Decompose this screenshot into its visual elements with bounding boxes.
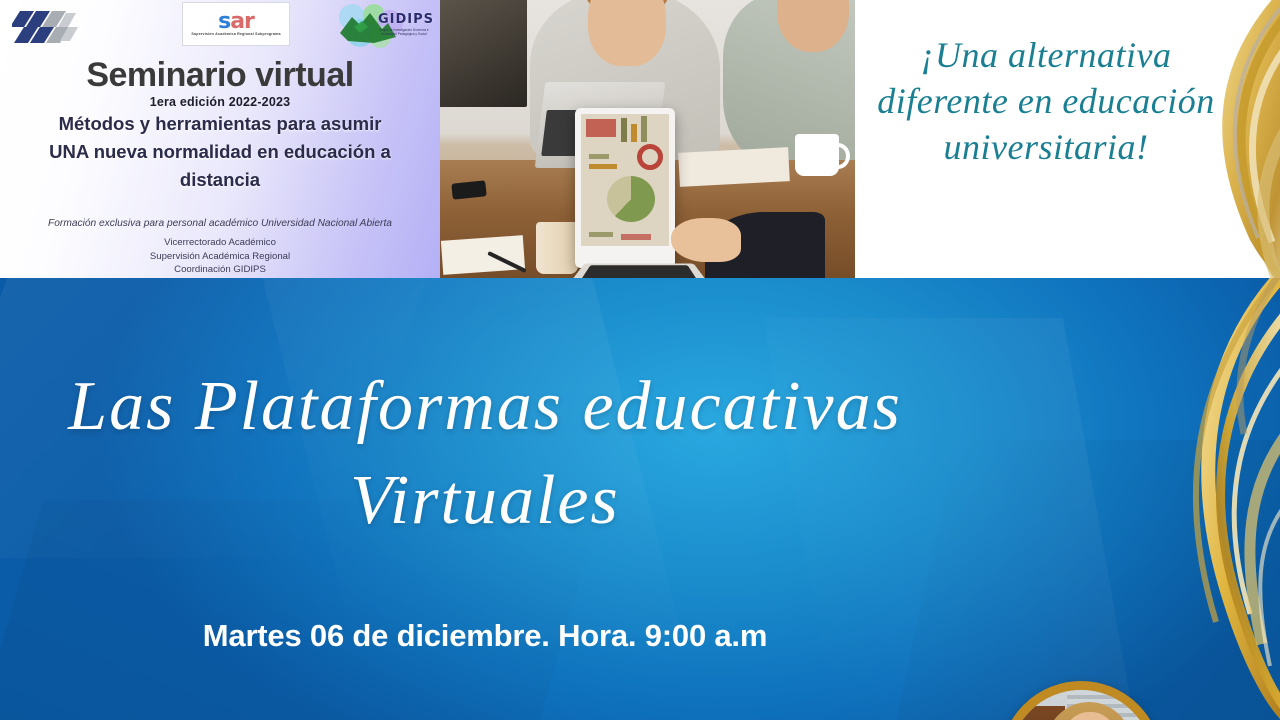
photo-wall-frame [440, 0, 527, 107]
photo-chart-donut [637, 144, 663, 170]
photo-laptop-screen [575, 108, 675, 268]
photo-chart-pie [607, 176, 655, 222]
gold-ribbon-decoration-bottom-icon [1104, 278, 1280, 720]
photo-chart-bar [621, 234, 651, 240]
tagline-panel: ¡Una alternativa diferente en educación … [855, 0, 1280, 278]
photo-mug [795, 134, 839, 176]
photo-typing-hands [705, 212, 825, 278]
seminar-edition: 1era edición 2022-2023 [0, 95, 440, 109]
tagline-text: ¡Una alternativa diferente en educación … [861, 32, 1231, 170]
sar-logo-caption: Supervisión Académica Regional Subprogra… [186, 32, 286, 37]
sar-logo: sar Supervisión Académica Regional Subpr… [182, 2, 290, 46]
photo-paper-cup [536, 222, 578, 274]
gidips-logo-icon: GIDIPS Grupo de Investigación Docencia e… [330, 3, 436, 49]
photo-papers-left [441, 235, 525, 275]
una-logo-icon [12, 5, 86, 49]
seminar-info-panel: sar Supervisión Académica Regional Subpr… [0, 0, 440, 278]
photo-infographic-screen [581, 114, 669, 246]
photo-chart-bar [641, 116, 647, 142]
main-section: Las Plataformas educativas Virtuales Mar… [0, 278, 1280, 720]
photo-chart-bar [631, 124, 637, 142]
seminar-subtitle: Métodos y herramientas para asumir UNA n… [38, 110, 402, 194]
photo-chart-bar [621, 118, 627, 142]
seminar-title: Seminario virtual [0, 56, 440, 95]
logo-row: sar Supervisión Académica Regional Subpr… [0, 2, 440, 54]
top-banner: sar Supervisión Académica Regional Subpr… [0, 0, 1280, 278]
sar-logo-wordmark: sar [218, 12, 254, 32]
gidips-wordmark: GIDIPS [378, 12, 434, 27]
main-topic-title: Las Plataformas educativas Virtuales [20, 360, 950, 548]
event-datetime: Martes 06 de diciembre. Hora. 9:00 a.m [20, 618, 950, 654]
organizer-lines: Vicerrectorado Académico Supervisión Aca… [20, 236, 420, 277]
seminar-audience-note: Formación exclusiva para personal académ… [20, 218, 420, 229]
photo-chart-bar [589, 232, 613, 237]
photo-chart-bar [589, 164, 617, 169]
gidips-caption: Grupo de Investigación Docencia e Innova… [374, 28, 434, 36]
photo-chart-block [586, 119, 616, 137]
photo-keyboard [570, 264, 708, 278]
photo-person-center-head [588, 0, 666, 66]
webinar-flyer: sar Supervisión Académica Regional Subpr… [0, 0, 1280, 720]
photo-papers-right [678, 147, 790, 187]
photo-chart-bar [589, 154, 609, 159]
meeting-photo [440, 0, 855, 278]
